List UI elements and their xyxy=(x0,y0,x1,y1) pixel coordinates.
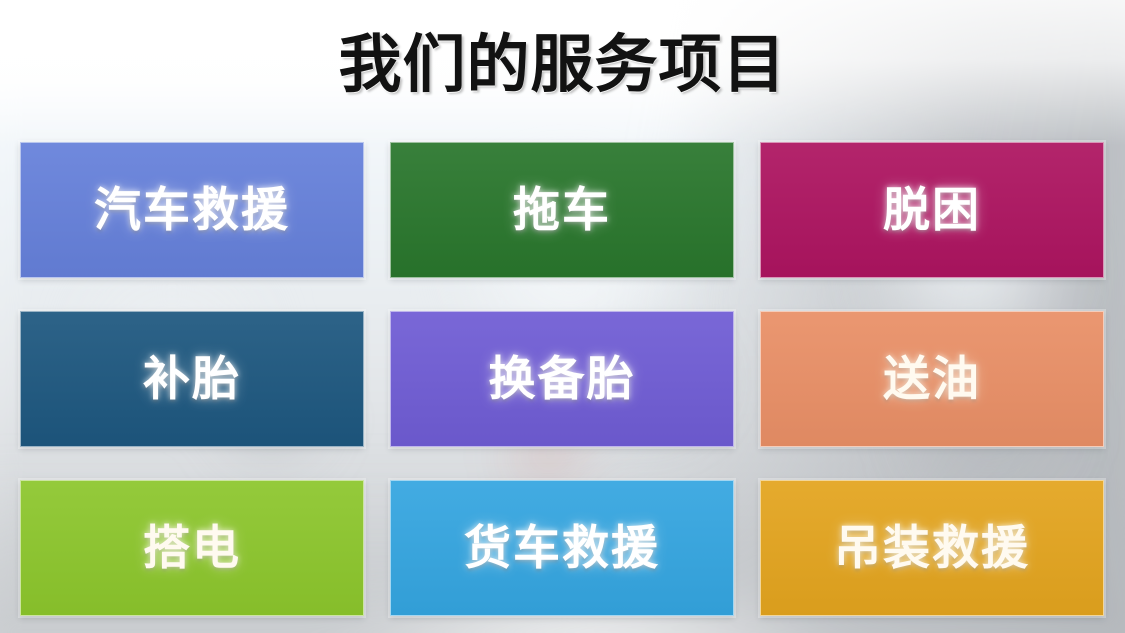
service-tile[interactable]: 拖车 xyxy=(390,142,734,278)
service-tile-label: 送油 xyxy=(883,356,981,403)
service-tile[interactable]: 搭电 xyxy=(20,480,364,616)
service-tile[interactable]: 吊装救援 xyxy=(760,480,1104,616)
service-tile[interactable]: 汽车救援 xyxy=(20,142,364,278)
service-tile[interactable]: 脱困 xyxy=(760,142,1104,278)
service-tile-label: 吊装救援 xyxy=(834,525,1030,572)
service-tile[interactable]: 补胎 xyxy=(20,311,364,447)
service-tile[interactable]: 货车救援 xyxy=(390,480,734,616)
service-tile-grid: 汽车救援拖车脱困补胎换备胎送油搭电货车救援吊装救援 xyxy=(20,142,1105,616)
service-tile-label: 拖车 xyxy=(513,187,611,234)
service-tile[interactable]: 换备胎 xyxy=(390,311,734,447)
service-tile[interactable]: 送油 xyxy=(760,311,1104,447)
service-tile-label: 换备胎 xyxy=(489,356,636,403)
title-bar: 我们的服务项目 xyxy=(0,0,1125,128)
service-tile-label: 搭电 xyxy=(143,525,241,572)
service-tile-label: 货车救援 xyxy=(464,525,660,572)
service-tile-label: 补胎 xyxy=(143,356,241,403)
service-poster: 我们的服务项目 汽车救援拖车脱困补胎换备胎送油搭电货车救援吊装救援 xyxy=(0,0,1125,633)
page-title: 我们的服务项目 xyxy=(339,33,787,96)
service-tile-label: 汽车救援 xyxy=(94,187,290,234)
service-tile-label: 脱困 xyxy=(883,187,981,234)
